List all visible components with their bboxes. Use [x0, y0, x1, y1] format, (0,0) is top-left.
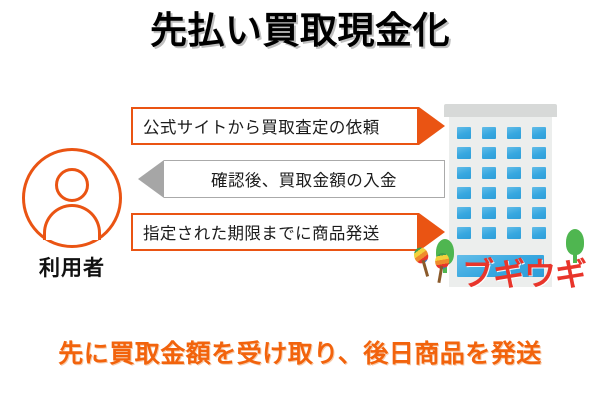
arrow-right-head-icon [419, 107, 445, 145]
building-window [482, 147, 496, 159]
maracas-icon [432, 252, 452, 284]
page-title: 先払い買取現金化 [0, 8, 600, 54]
building-window [532, 187, 546, 199]
building-roof [444, 104, 557, 117]
flow-step-3-arrow: 指定された期限までに商品発送 [131, 213, 445, 251]
building-window [457, 147, 471, 159]
building-window [532, 167, 546, 179]
flow-step-1-label: 公式サイトから買取査定の依頼 [131, 107, 419, 145]
building-window [532, 227, 546, 239]
building-windows [457, 127, 544, 239]
person-body-icon [43, 204, 101, 240]
building-window [457, 207, 471, 219]
flow-step-2-arrow: 確認後、買取金額の入金 [138, 160, 445, 198]
building-window [457, 127, 471, 139]
building-window [507, 207, 521, 219]
person-head-icon [55, 168, 89, 202]
watermark-text: ブギウギ [462, 249, 586, 295]
building-window [507, 127, 521, 139]
watermark: ブギウギ [414, 243, 600, 299]
building-window [507, 147, 521, 159]
building-window [532, 147, 546, 159]
arrow-left-head-icon [138, 160, 164, 198]
building-window [457, 227, 471, 239]
flow-step-2-label: 確認後、買取金額の入金 [164, 160, 445, 198]
building-window [532, 207, 546, 219]
building-window [482, 207, 496, 219]
building-window [507, 187, 521, 199]
summary-caption: 先に買取金額を受け取り、後日商品を発送 [0, 334, 600, 370]
building-window [482, 167, 496, 179]
user-actor: 利用者 [18, 148, 126, 282]
building-window [482, 127, 496, 139]
flow-step-1-arrow: 公式サイトから買取査定の依頼 [131, 107, 445, 145]
building-window [482, 187, 496, 199]
user-actor-label: 利用者 [18, 252, 126, 282]
building-window [457, 167, 471, 179]
building-window [507, 167, 521, 179]
building-window [507, 227, 521, 239]
infographic-canvas: 先払い買取現金化 利用者 公式サイトから買取査定の依頼 確認後、買取金額の入金 … [0, 0, 600, 400]
person-circle-icon [22, 148, 122, 248]
building-window [482, 227, 496, 239]
flow-step-3-label: 指定された期限までに商品発送 [131, 213, 419, 251]
building-window [457, 187, 471, 199]
maracas-icon [412, 246, 435, 279]
building-window [532, 127, 546, 139]
